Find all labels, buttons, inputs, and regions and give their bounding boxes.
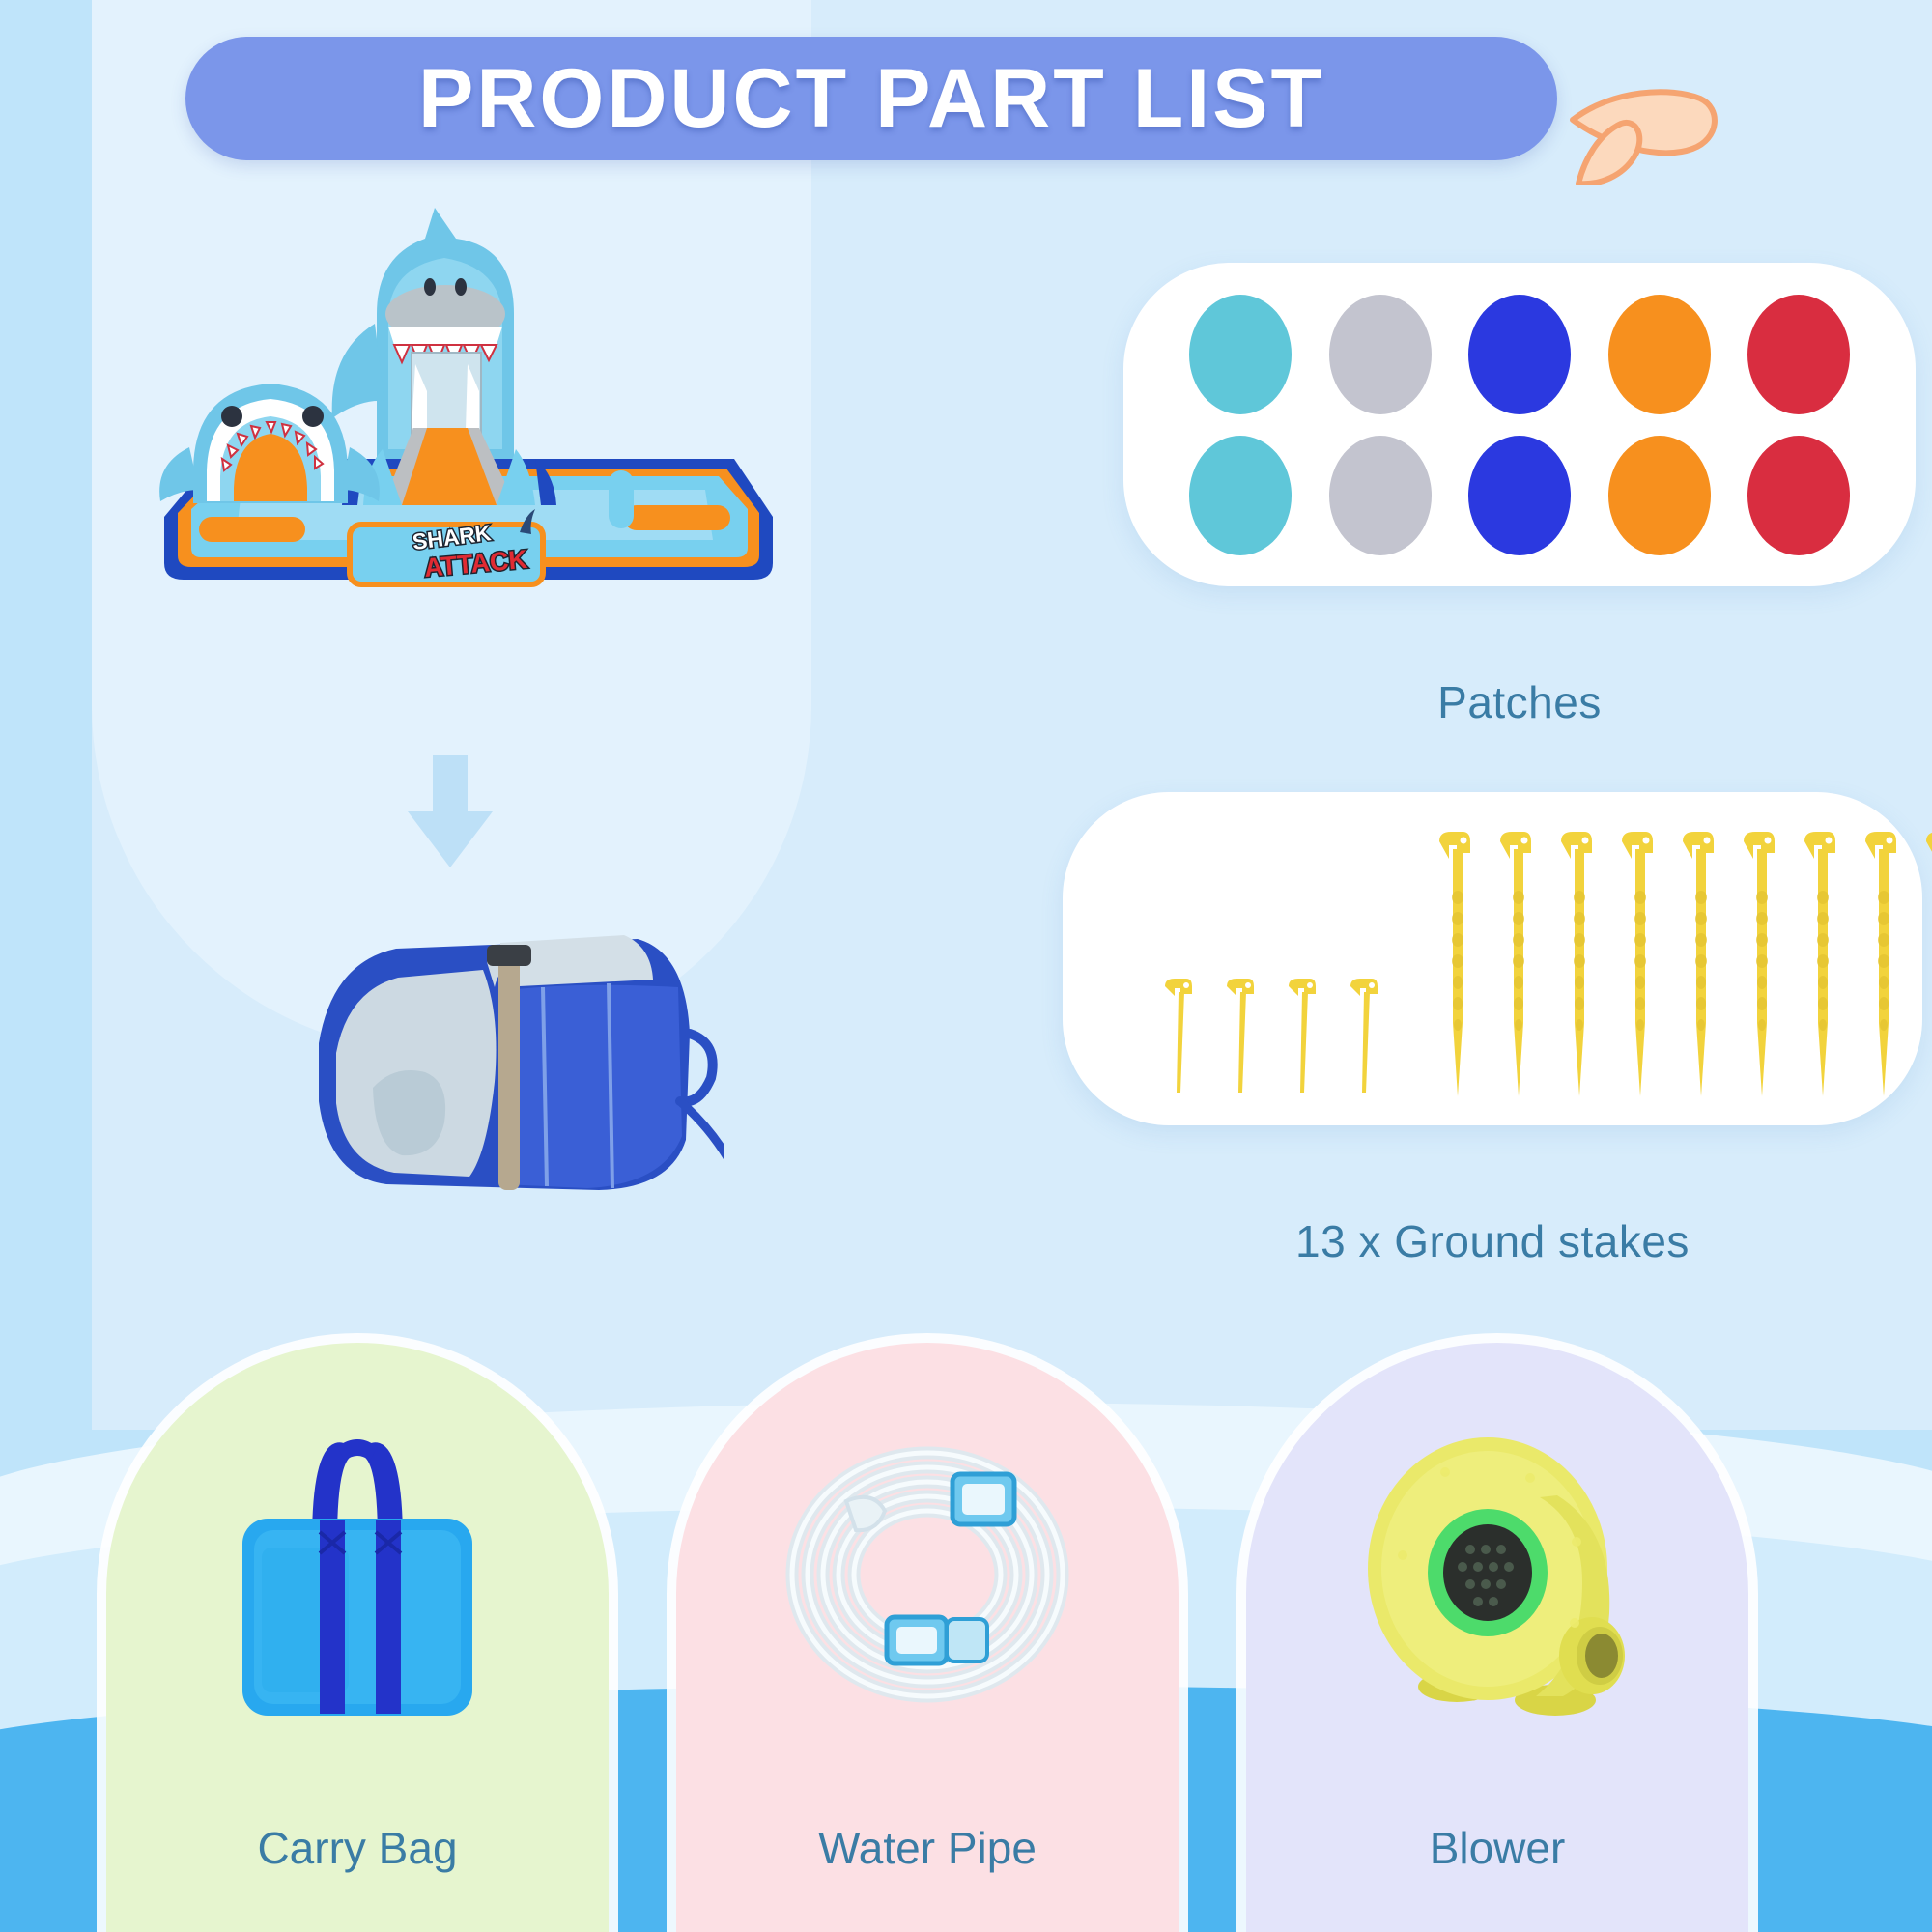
ground-stake-icon: [1738, 830, 1776, 1102]
ground-stake-icon: [1159, 975, 1194, 1098]
part-card-blower: Blower: [1246, 1343, 1748, 1932]
ground-stakes-card: [1063, 792, 1922, 1125]
ground-stake-icon: [1799, 830, 1837, 1102]
water-pipe-coil-icon: [763, 1418, 1092, 1737]
patch-red: [1747, 436, 1850, 555]
ground-stakes-caption: 13 x Ground stakes: [1063, 1215, 1922, 1267]
ground-stake-icon: [1434, 830, 1472, 1102]
patch-row: [1189, 295, 1850, 414]
ground-stake-icon: [1221, 975, 1256, 1098]
short-stakes-group: [1159, 975, 1379, 1098]
water-droplet-splash-icon: [1565, 60, 1729, 185]
patch-gray: [1329, 436, 1432, 555]
patches-grid: [1123, 263, 1916, 586]
patch-cyan: [1189, 436, 1292, 555]
ground-stake-icon: [1283, 975, 1318, 1098]
ground-stake-icon: [1677, 830, 1716, 1102]
ground-stake-icon: [1555, 830, 1594, 1102]
patch-gray: [1329, 295, 1432, 414]
ground-stake-icon: [1920, 830, 1932, 1102]
carry-bag-icon: [198, 1418, 517, 1737]
ground-stake-icon: [1860, 830, 1898, 1102]
patch-orange: [1608, 436, 1711, 555]
ground-stake-icon: [1494, 830, 1533, 1102]
long-stakes-group: [1434, 830, 1932, 1102]
packed-rolled-bag-icon: [280, 898, 724, 1217]
inflatable-shark-water-park-icon: SHARK ATTACK: [135, 169, 792, 623]
patch-red: [1747, 295, 1850, 414]
patch-row: [1189, 436, 1850, 555]
ground-stake-icon: [1345, 975, 1379, 1098]
patches-card: [1123, 263, 1916, 586]
ground-stake-icon: [1616, 830, 1655, 1102]
patch-cyan: [1189, 295, 1292, 414]
page-title-banner: PRODUCT PART LIST: [185, 37, 1557, 160]
part-card-carry-bag: Carry Bag: [106, 1343, 609, 1932]
page-title: PRODUCT PART LIST: [418, 51, 1324, 147]
part-card-label: Blower: [1246, 1822, 1748, 1874]
part-card-label: Carry Bag: [106, 1822, 609, 1874]
air-blower-icon: [1333, 1418, 1662, 1737]
part-card-water-pipe: Water Pipe: [676, 1343, 1179, 1932]
patch-blue: [1468, 436, 1571, 555]
patches-caption: Patches: [1123, 676, 1916, 728]
arrow-down-icon: [404, 755, 497, 869]
part-card-label: Water Pipe: [676, 1822, 1179, 1874]
infographic-canvas: PRODUCT PART LIST: [0, 0, 1932, 1932]
patch-orange: [1608, 295, 1711, 414]
patch-blue: [1468, 295, 1571, 414]
ground-stakes-row: [1063, 812, 1922, 1102]
